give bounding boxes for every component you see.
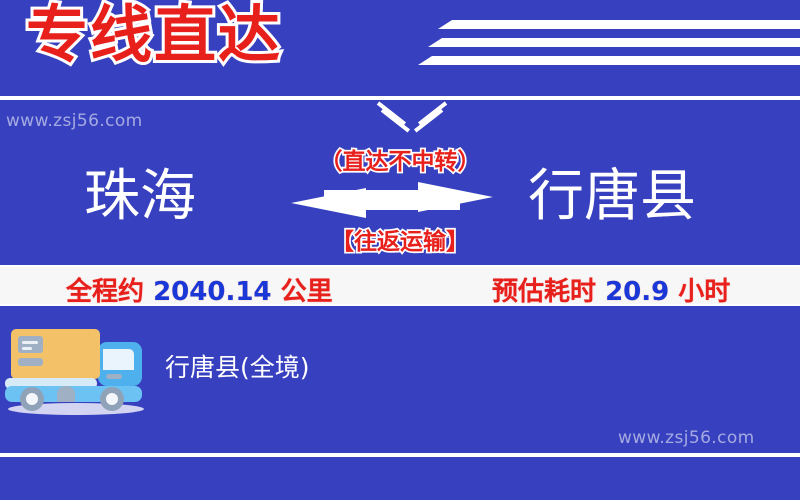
logistics-route-banner: 专线直达 www.zsj56.com www.zsj56.com 珠海 行唐县 …	[0, 0, 800, 500]
watermark-bottom-right: www.zsj56.com	[618, 428, 755, 448]
route-stats-band: 全程约 2040.14 公里 预估耗时 20.9 小时	[0, 265, 800, 306]
bidirectional-arrows	[288, 180, 500, 220]
cargo-label-top	[18, 336, 43, 353]
duration-stat: 预估耗时 20.9 小时	[492, 271, 730, 308]
watermark-top-left: www.zsj56.com	[6, 111, 143, 131]
duration-prefix-label: 预估耗时	[492, 277, 596, 307]
arrow-pair-icon	[288, 180, 500, 220]
delivery-truck-icon	[2, 316, 152, 416]
coverage-area-label: 行唐县(全境)	[165, 348, 310, 384]
truck-hub-front	[106, 393, 118, 405]
distance-prefix-label: 全程约	[66, 277, 144, 307]
decor-stripe-2	[428, 38, 800, 47]
destination-city-label: 行唐县	[528, 166, 696, 228]
truck-underbody	[57, 386, 75, 402]
cargo-label-bottom	[18, 358, 43, 366]
distance-value: 2040.14	[153, 277, 271, 307]
duration-unit-label: 小时	[678, 277, 730, 307]
origin-city-label: 珠海	[84, 166, 196, 228]
decor-stripe-1	[438, 20, 800, 29]
truck-hub-rear	[26, 393, 38, 405]
cargo-label-line-2	[22, 347, 32, 350]
cargo-label-line-1	[22, 341, 38, 344]
decor-stripe-3	[418, 56, 800, 65]
roundtrip-note: 【往返运输】	[295, 222, 505, 256]
headline-title: 专线直达	[26, 4, 282, 66]
truck-window	[103, 349, 134, 370]
truck-door-handle	[106, 374, 122, 379]
distance-unit-label: 公里	[281, 277, 333, 307]
duration-value: 20.9	[605, 277, 669, 307]
header-divider-line	[0, 96, 800, 100]
footer-bar: 公司地址：物流园区（请咨询我公司客服发详细定位）	[0, 457, 800, 500]
banner-header: 专线直达	[0, 0, 800, 100]
distance-stat: 全程约 2040.14 公里	[66, 271, 333, 308]
chevron-down-icon-left-b	[381, 108, 410, 132]
direct-service-note: （直达不中转）	[295, 142, 505, 176]
